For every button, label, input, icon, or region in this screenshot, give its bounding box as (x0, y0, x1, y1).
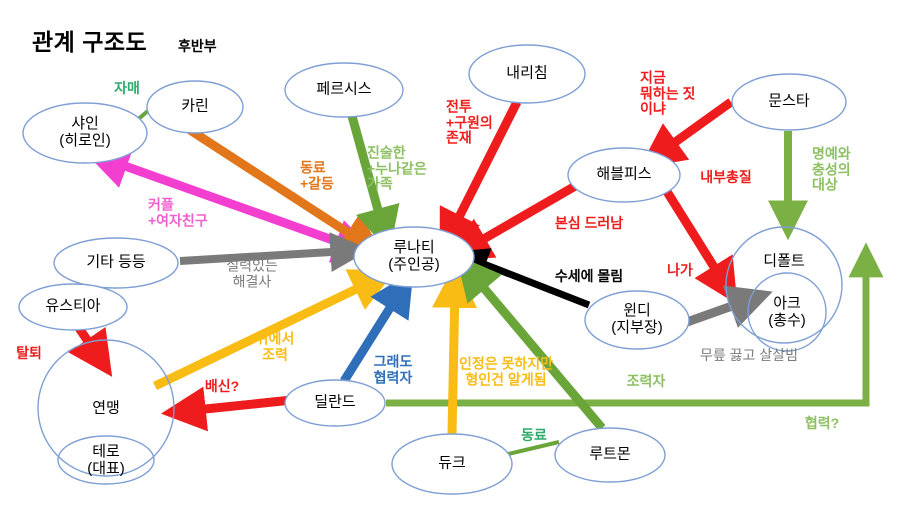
node-moonstar[interactable] (732, 74, 846, 130)
diagram-vector-layer (0, 0, 900, 506)
edges-layer (79, 94, 866, 455)
node-persis[interactable] (285, 63, 403, 117)
node-heavlpis[interactable] (568, 148, 680, 202)
edge-persis-lunati (352, 116, 383, 228)
edge-karin-lunati (190, 130, 364, 243)
relationship-diagram-canvas: 관계 구조도 후반부 샤인 (히로인) 카린 페르시스 내리침 문스타 해블피스… (0, 0, 900, 506)
node-tero[interactable] (58, 436, 154, 484)
node-windy[interactable] (585, 291, 689, 349)
node-karin[interactable] (147, 81, 243, 133)
edge-heavlpis-lunati (468, 185, 577, 248)
node-shine[interactable] (23, 103, 147, 163)
node-naerichim[interactable] (469, 45, 585, 103)
node-lunati[interactable] (354, 227, 474, 287)
edge-gita-lunati (180, 251, 348, 261)
node-deeland[interactable] (285, 380, 385, 426)
node-duke[interactable] (392, 434, 512, 494)
edge-naerichim-lunati (451, 102, 517, 233)
node-rutmon[interactable] (555, 428, 665, 482)
node-gita[interactable] (54, 238, 178, 288)
edge-shine-lunati (108, 160, 355, 248)
edge-moonstar-heavlpis (660, 102, 731, 153)
node-eustia[interactable] (19, 284, 127, 330)
edge-windy-ark (687, 300, 749, 322)
node-default[interactable] (726, 227, 842, 343)
edge-alliance-lunati (155, 281, 373, 386)
node-ark[interactable] (748, 273, 826, 351)
edge-deeland-lunati (344, 292, 400, 381)
edge-deeland-alliance (186, 400, 292, 411)
edge-duke-rutmon (504, 442, 559, 455)
edge-heavlpis-default (666, 190, 724, 283)
edge-duke-lunati (452, 288, 455, 434)
